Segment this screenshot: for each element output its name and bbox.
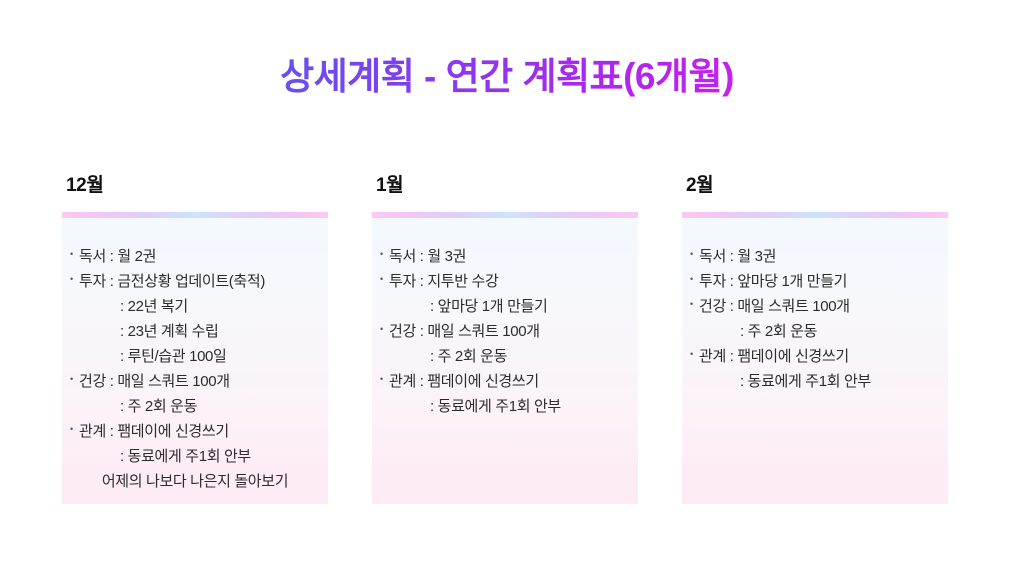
plan-line: 건강 : 매일 스쿼트 100개 — [62, 369, 328, 394]
plan-line: : 23년 계획 수립 — [62, 319, 328, 344]
month-column-12: 12월 독서 : 월 2권 투자 : 금전상황 업데이트(축적) : 22년 복… — [62, 176, 328, 504]
plan-footer-line: 어제의 나보다 나은지 돌아보기 — [62, 469, 328, 494]
plan-line: 관계 : 팸데이에 신경쓰기 — [62, 419, 328, 444]
month-column-1: 1월 독서 : 월 3권 투자 : 지투반 수강 : 앞마당 1개 만들기 건강… — [372, 176, 638, 504]
plan-line: : 동료에게 주1회 안부 — [62, 444, 328, 469]
plan-line: : 주 2회 운동 — [372, 344, 638, 369]
plan-line: : 주 2회 운동 — [682, 319, 948, 344]
month-card-1: 독서 : 월 3권 투자 : 지투반 수강 : 앞마당 1개 만들기 건강 : … — [372, 218, 638, 504]
page-title: 상세계획 - 연간 계획표(6개월) — [0, 52, 1014, 102]
plan-line: 관계 : 팸데이에 신경쓰기 — [372, 369, 638, 394]
plan-line: 관계 : 팸데이에 신경쓰기 — [682, 344, 948, 369]
plan-line: 독서 : 월 2권 — [62, 244, 328, 269]
plan-line: : 22년 복기 — [62, 294, 328, 319]
plan-line: 투자 : 지투반 수강 — [372, 269, 638, 294]
month-header-1: 1월 — [372, 176, 638, 196]
plan-line: 독서 : 월 3권 — [682, 244, 948, 269]
plan-line: : 루틴/습관 100일 — [62, 344, 328, 369]
month-card-12: 독서 : 월 2권 투자 : 금전상황 업데이트(축적) : 22년 복기 : … — [62, 218, 328, 504]
plan-line: : 동료에게 주1회 안부 — [682, 369, 948, 394]
plan-line: 투자 : 앞마당 1개 만들기 — [682, 269, 948, 294]
plan-line: : 앞마당 1개 만들기 — [372, 294, 638, 319]
month-header-12: 12월 — [62, 176, 328, 196]
plan-line: : 주 2회 운동 — [62, 394, 328, 419]
plan-line: 건강 : 매일 스쿼트 100개 — [682, 294, 948, 319]
plan-line: 독서 : 월 3권 — [372, 244, 638, 269]
month-header-2: 2월 — [682, 176, 948, 196]
plan-line: 건강 : 매일 스쿼트 100개 — [372, 319, 638, 344]
month-columns: 12월 독서 : 월 2권 투자 : 금전상황 업데이트(축적) : 22년 복… — [62, 176, 948, 516]
plan-line: : 동료에게 주1회 안부 — [372, 394, 638, 419]
plan-line: 투자 : 금전상황 업데이트(축적) — [62, 269, 328, 294]
month-column-2: 2월 독서 : 월 3권 투자 : 앞마당 1개 만들기 건강 : 매일 스쿼트… — [682, 176, 948, 504]
month-card-2: 독서 : 월 3권 투자 : 앞마당 1개 만들기 건강 : 매일 스쿼트 10… — [682, 218, 948, 504]
